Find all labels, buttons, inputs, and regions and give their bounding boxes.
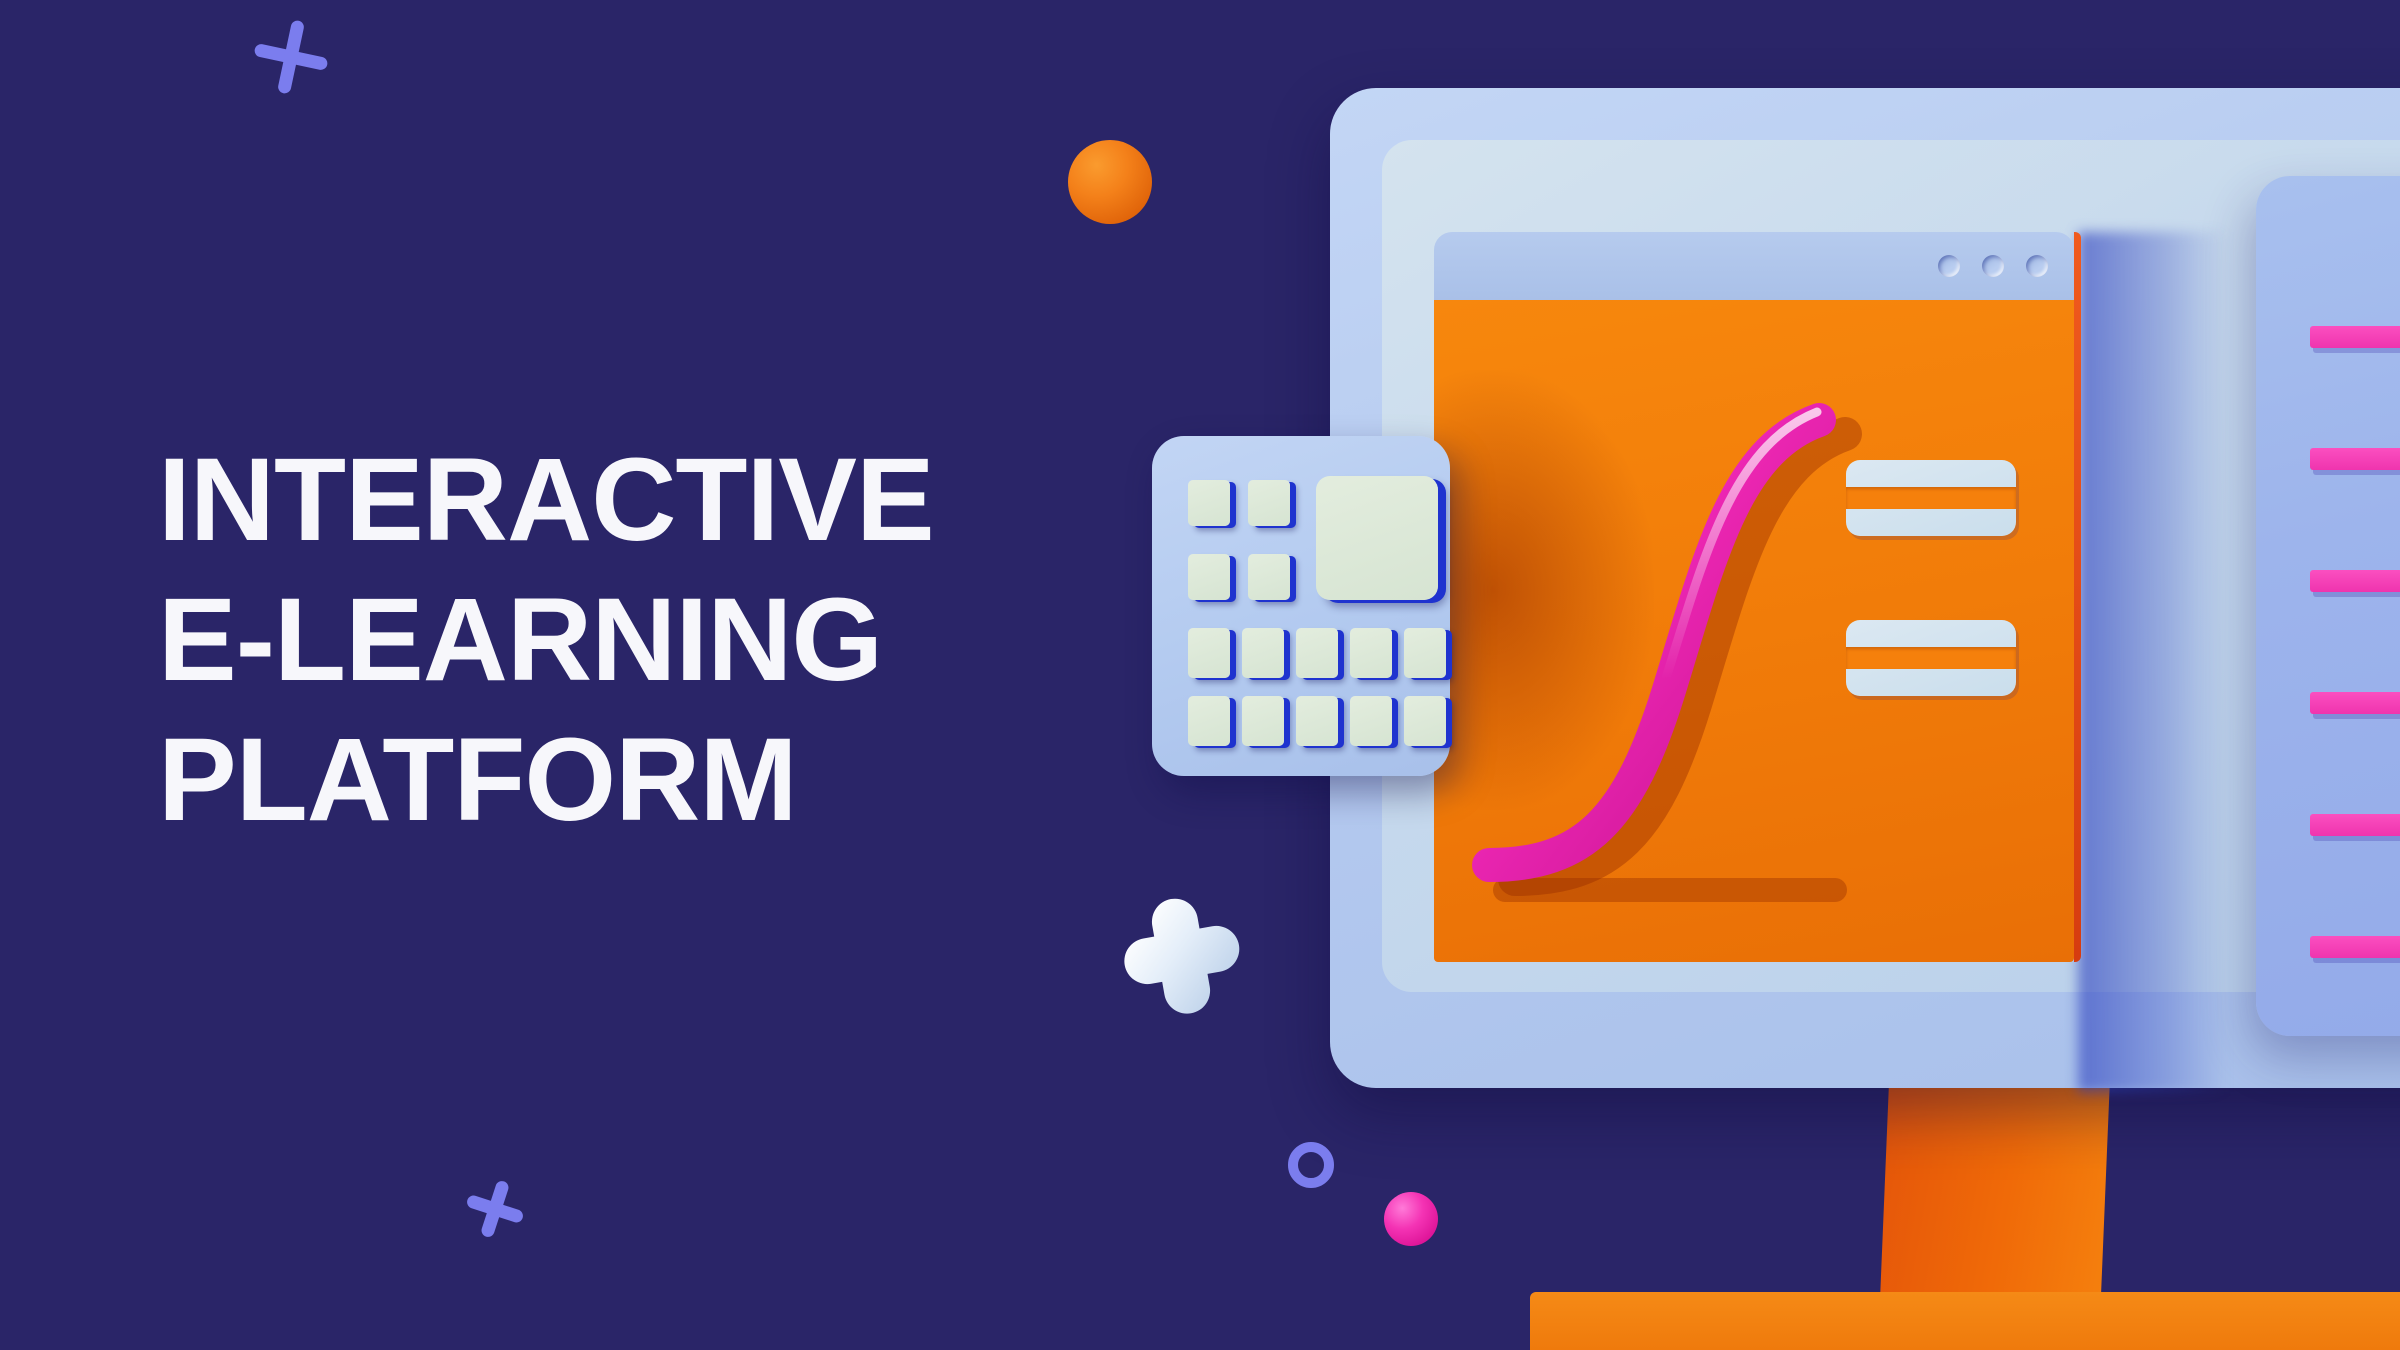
- calculator-keypad: [1152, 436, 1450, 776]
- list-item: [2310, 814, 2400, 836]
- keypad-key[interactable]: [1404, 696, 1446, 746]
- lesson-list-card: [2256, 176, 2400, 1036]
- list-item: [2310, 692, 2400, 714]
- pale-blue-plus-icon: [1115, 889, 1249, 1023]
- list-item: [2310, 448, 2400, 470]
- headline-line-2: E-LEARNING: [158, 570, 1158, 710]
- keypad-key[interactable]: [1188, 480, 1230, 526]
- window-control-dot-icon[interactable]: [1982, 255, 2004, 277]
- monitor-stand: [1880, 1078, 2110, 1300]
- window-titlebar: [1434, 232, 2074, 300]
- list-item: [2310, 936, 2400, 958]
- equals-bar-icon: [1846, 620, 2016, 696]
- equals-bar-icon: [1846, 460, 2016, 536]
- periwinkle-cross-large-icon: [247, 13, 335, 101]
- window-cast-shadow: [2078, 232, 2228, 1092]
- list-item: [2310, 326, 2400, 348]
- orange-sphere-icon: [1068, 140, 1152, 224]
- keypad-key[interactable]: [1242, 696, 1284, 746]
- chart-window: [1434, 232, 2074, 962]
- keypad-key[interactable]: [1248, 480, 1290, 526]
- hero-banner: INTERACTIVE E-LEARNING PLATFORM: [0, 0, 2400, 1350]
- list-item: [2310, 570, 2400, 592]
- window-controls: [1938, 255, 2048, 277]
- keypad-key[interactable]: [1296, 696, 1338, 746]
- keypad-key[interactable]: [1350, 696, 1392, 746]
- headline-line-1: INTERACTIVE: [158, 430, 1158, 570]
- keypad-key[interactable]: [1188, 696, 1230, 746]
- keypad-key[interactable]: [1296, 628, 1338, 678]
- keypad-key[interactable]: [1248, 554, 1290, 600]
- periwinkle-cross-small-icon: [458, 1172, 531, 1245]
- monitor-base: [1530, 1292, 2400, 1350]
- periwinkle-ring-icon: [1288, 1142, 1334, 1188]
- keypad-display-key[interactable]: [1316, 476, 1438, 600]
- pink-sphere-icon: [1384, 1192, 1438, 1246]
- window-control-dot-icon[interactable]: [1938, 255, 1960, 277]
- keypad-key[interactable]: [1404, 628, 1446, 678]
- window-control-dot-icon[interactable]: [2026, 255, 2048, 277]
- headline-line-3: PLATFORM: [158, 710, 1158, 850]
- keypad-key[interactable]: [1188, 554, 1230, 600]
- keypad-key[interactable]: [1350, 628, 1392, 678]
- keypad-key[interactable]: [1188, 628, 1230, 678]
- keypad-key[interactable]: [1242, 628, 1284, 678]
- page-title: INTERACTIVE E-LEARNING PLATFORM: [158, 430, 1158, 850]
- window-content: [1434, 300, 2074, 962]
- window-right-edge: [2074, 232, 2081, 962]
